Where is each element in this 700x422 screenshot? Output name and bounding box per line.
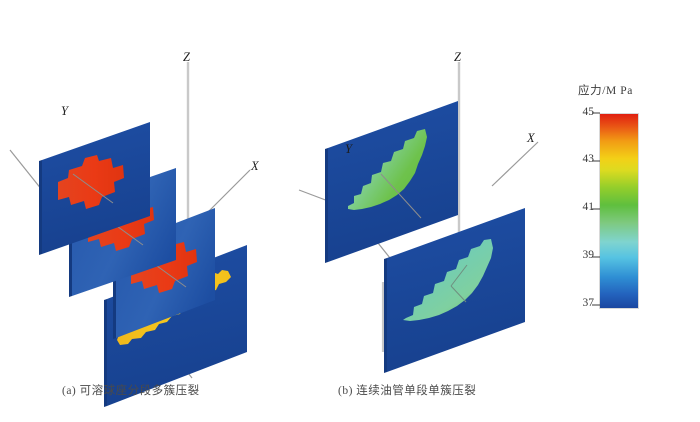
plane-edge	[325, 148, 328, 263]
panel-a-axis-label-y: Y	[61, 104, 68, 119]
plane-edge	[384, 258, 387, 373]
colorbar-tick-37: 37	[574, 297, 594, 309]
panel-b-axis-label-x: X	[527, 131, 535, 146]
panel-b-x-axis	[492, 142, 538, 186]
colorbar-tick-41: 41	[574, 201, 594, 213]
panel-b-caption: (b) 连续油管单段单簇压裂	[338, 382, 476, 398]
panel-b-plane-1	[325, 101, 458, 263]
colorbar-tick-45: 45	[574, 106, 594, 118]
colorbar-gradient	[599, 113, 639, 309]
colorbar-tick-39: 39	[574, 249, 594, 261]
plane-edge	[39, 160, 42, 255]
panel-a-caption: (a) 可溶球座分段多簇压裂	[62, 382, 200, 398]
panel-b-axis-label-y: Y	[345, 142, 352, 157]
panel-a	[10, 62, 250, 407]
colorbar-title: 应力/M Pa	[578, 82, 633, 98]
figure-canvas	[0, 0, 700, 422]
panel-a-axis-label-z: Z	[183, 50, 190, 65]
panel-a-axis-label-x: X	[251, 159, 259, 174]
panel-b	[299, 62, 538, 373]
colorbar-tick-43: 43	[574, 153, 594, 165]
panel-b-axis-label-z: Z	[454, 50, 461, 65]
